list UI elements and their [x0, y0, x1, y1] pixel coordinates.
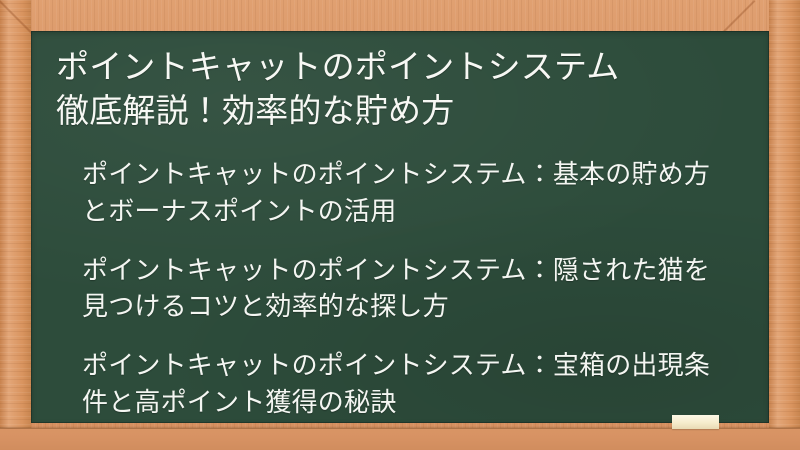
board-content: ポイントキャットのポイントシステム 徹底解説！効率的な貯め方 ポイントキャットの…: [31, 31, 769, 423]
chalk-ledge: [0, 428, 800, 450]
list-item[interactable]: ポイントキャットのポイントシステム：基本の貯め方とボーナスポイントの活用: [82, 156, 721, 230]
list-item[interactable]: ポイントキャットのポイントシステム：隠された猫を見つけるコツと効率的な探し方: [82, 252, 721, 326]
page-title: ポイントキャットのポイントシステム 徹底解説！効率的な貯め方: [56, 45, 747, 133]
frame-right-rail: [769, 0, 800, 450]
chalkboard-slide: ポイントキャットのポイントシステム 徹底解説！効率的な貯め方 ポイントキャットの…: [0, 0, 800, 450]
article-list: ポイントキャットのポイントシステム：基本の貯め方とボーナスポイントの活用 ポイン…: [56, 156, 747, 421]
frame-left-rail: [0, 0, 31, 450]
chalkboard-surface: ポイントキャットのポイントシステム 徹底解説！効率的な貯め方 ポイントキャットの…: [31, 31, 769, 423]
chalk-stick-icon: [672, 415, 719, 429]
list-item[interactable]: ポイントキャットのポイントシステム：宝箱の出現条件と高ポイント獲得の秘訣: [82, 347, 721, 421]
